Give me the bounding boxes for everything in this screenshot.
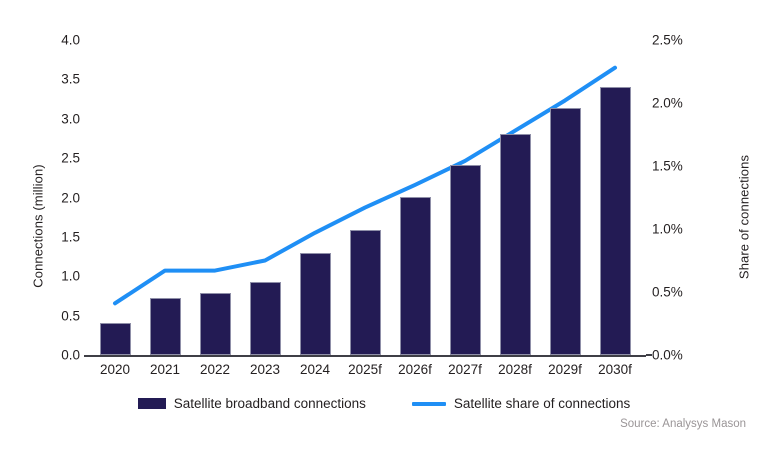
bar-2021	[150, 298, 181, 355]
bar-2024	[300, 253, 331, 355]
y-tick-right-1: 0.5%	[652, 285, 683, 300]
line-swatch-icon	[412, 402, 446, 406]
chart-legend: Satellite broadband connections Satellit…	[0, 396, 768, 411]
bar-2022	[200, 293, 231, 355]
x-label-2022: 2022	[200, 362, 230, 377]
x-label-2029f: 2029f	[548, 362, 582, 377]
y-tick-left-5: 2.5	[61, 151, 80, 166]
bar-2026f	[400, 197, 431, 355]
y-tick-left-0: 0.0	[61, 348, 80, 363]
y-tick-right-3: 1.5%	[652, 159, 683, 174]
x-label-2024: 2024	[300, 362, 330, 377]
y-tick-left-1: 0.5	[61, 308, 80, 323]
legend-label-bars: Satellite broadband connections	[174, 396, 366, 411]
x-label-2025f: 2025f	[348, 362, 382, 377]
bar-2027f	[450, 165, 481, 355]
x-axis-line	[84, 355, 646, 357]
y-axis-left-ticks: 0.00.51.01.52.02.53.03.54.0	[36, 0, 80, 452]
bar-2028f	[500, 134, 531, 355]
chart-container: Connections (million) Share of connectio…	[0, 0, 768, 452]
y-tick-left-7: 3.5	[61, 72, 80, 87]
y-tickmark-right-0	[646, 354, 652, 356]
y-axis-right-ticks: 0.0%0.5%1.0%1.5%2.0%2.5%	[652, 0, 712, 452]
bar-2030f	[600, 87, 631, 355]
y-axis-right-title: Share of connections	[737, 117, 752, 317]
bar-2020	[100, 323, 131, 355]
bar-2023	[250, 282, 281, 355]
legend-label-line: Satellite share of connections	[454, 396, 630, 411]
y-tick-right-4: 2.0%	[652, 96, 683, 111]
y-tick-left-3: 1.5	[61, 229, 80, 244]
x-label-2030f: 2030f	[598, 362, 632, 377]
y-tick-right-5: 2.5%	[652, 33, 683, 48]
bar-2029f	[550, 108, 581, 355]
legend-item-line[interactable]: Satellite share of connections	[412, 396, 630, 411]
x-label-2027f: 2027f	[448, 362, 482, 377]
legend-item-bars[interactable]: Satellite broadband connections	[138, 396, 366, 411]
x-label-2028f: 2028f	[498, 362, 532, 377]
x-label-2023: 2023	[250, 362, 280, 377]
y-tick-left-6: 3.0	[61, 111, 80, 126]
source-note: Source: Analysys Mason	[620, 418, 746, 430]
x-label-2020: 2020	[100, 362, 130, 377]
y-tick-left-2: 1.0	[61, 269, 80, 284]
plot-area	[90, 40, 640, 355]
bar-2025f	[350, 230, 381, 355]
y-tick-right-0: 0.0%	[652, 348, 683, 363]
x-axis-labels: 202020212022202320242025f2026f2027f2028f…	[90, 362, 640, 386]
x-label-2021: 2021	[150, 362, 180, 377]
x-label-2026f: 2026f	[398, 362, 432, 377]
bar-swatch-icon	[138, 398, 166, 409]
y-tick-right-2: 1.0%	[652, 222, 683, 237]
y-tick-left-8: 4.0	[61, 33, 80, 48]
y-tick-left-4: 2.0	[61, 190, 80, 205]
